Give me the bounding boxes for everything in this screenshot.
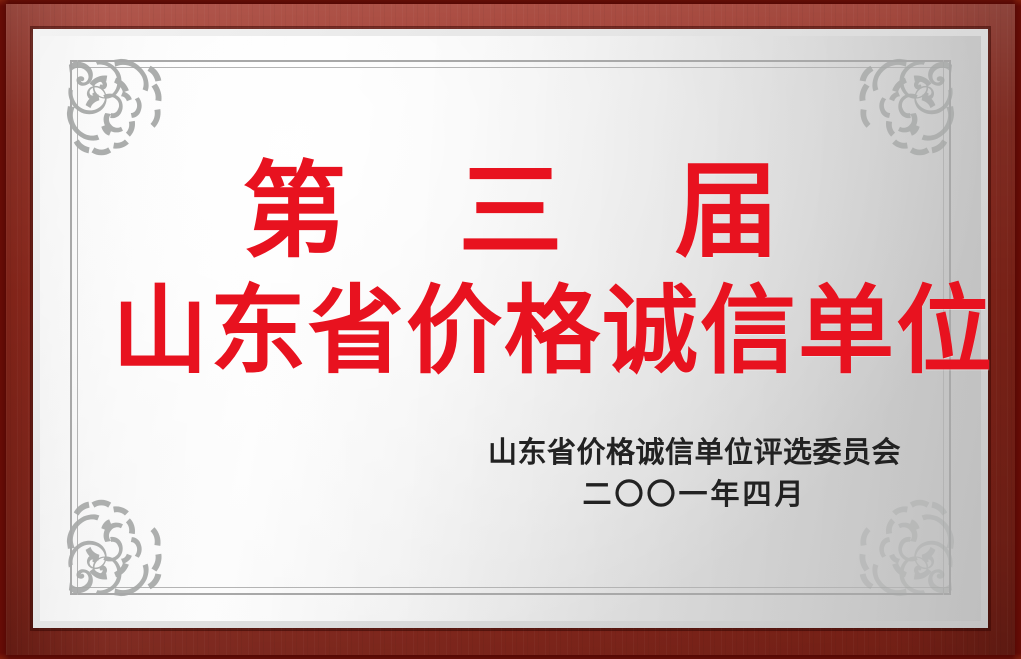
rule-top-inner [70,67,951,68]
award-title-block: 第 三 届 山东省价格诚信单位 [112,158,909,387]
issue-date: 二〇〇一年四月 [488,473,901,515]
issuing-organization: 山东省价格诚信单位评选委员会 [488,431,901,473]
rule-top-outer [70,60,951,62]
plate-surface: 第 三 届 山东省价格诚信单位 山东省价格诚信单位评选委员会 二〇〇一年四月 [40,36,981,621]
rule-left-inner [77,60,78,595]
award-signature-block: 山东省价格诚信单位评选委员会 二〇〇一年四月 [488,431,901,515]
rule-bottom-inner [70,587,951,588]
award-title-line-1: 第 三 届 [112,158,909,264]
award-plaque: 第 三 届 山东省价格诚信单位 山东省价格诚信单位评选委员会 二〇〇一年四月 [0,0,1021,659]
rule-left-outer [70,60,72,595]
rule-bottom-outer [70,593,951,595]
plaque-content: 第 三 届 山东省价格诚信单位 山东省价格诚信单位评选委员会 二〇〇一年四月 [112,96,909,559]
award-title-line-2: 山东省价格诚信单位 [112,274,909,387]
